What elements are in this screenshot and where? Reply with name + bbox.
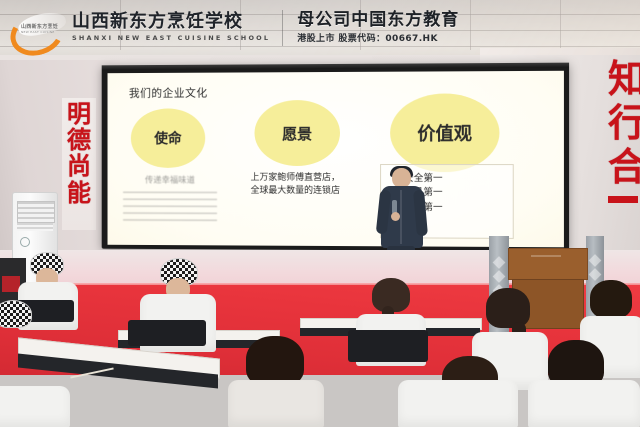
chef-coat (0, 386, 70, 427)
slide-bubble-mission: 使命 (131, 108, 205, 168)
banner-left-char-2: 尚 (67, 154, 91, 179)
slide-bubble-values: 价值观 (390, 93, 499, 172)
student-foreground-left (0, 300, 66, 427)
chef-hat (0, 300, 32, 328)
banner-right-char-0: 知 (608, 60, 640, 100)
photo-scene: 明 德 尚 能 知 行 合 我们的企业文化 使命 愿景 价值观 传递幸福味道 上… (0, 0, 640, 427)
slide-content: 我们的企业文化 使命 愿景 价值观 传递幸福味道 上万家鲍师傅直营店，全球最大数… (108, 71, 564, 248)
presenter-head (392, 168, 411, 188)
banner-left-char-0: 明 (67, 102, 91, 127)
student-hair (246, 336, 304, 386)
slide-title: 我们的企业文化 (129, 85, 208, 101)
chef-coat (398, 380, 518, 427)
chair-middle (128, 320, 206, 346)
wall-banner-right: 知 行 合 (604, 60, 640, 240)
banner-right-char-2: 合 (608, 148, 640, 188)
student-foreground-far-right (528, 340, 640, 427)
wall-banner-left: 明 德 尚 能 (62, 98, 96, 230)
banner-right-dash (608, 196, 638, 203)
parent-company-name: 母公司中国东方教育 (297, 12, 459, 29)
ac-vent-lower (17, 223, 53, 231)
slide-column-mission-text: 传递幸福味道 (129, 176, 211, 187)
chef-coat (228, 380, 324, 427)
slide-column-vision-text: 上万家鲍师傅直营店，全球最大数量的连锁店 (251, 172, 342, 198)
school-name-cn: 山西新东方烹饪学校 (72, 13, 270, 31)
ac-badge-icon (20, 237, 30, 247)
banner-left-char-1: 德 (67, 128, 91, 153)
projection-screen: 我们的企业文化 使命 愿景 价值观 传递幸福味道 上万家鲍师傅直营店，全球最大数… (102, 63, 569, 252)
header-divider (282, 10, 283, 46)
logo-inner-en: NEW EAST CUISINE (21, 30, 55, 34)
presenter-hand (391, 212, 400, 221)
parent-company-block: 母公司中国东方教育 港股上市 股票代码：00667.HK (297, 12, 459, 44)
school-logo-icon: 山西新东方烹饪 NEW EAST CUISINE (4, 5, 68, 51)
slide-column-mission-placeholder (123, 192, 217, 224)
school-name-en: SHANXI NEW EAST CUISINE SCHOOL (72, 35, 270, 42)
student-hair (486, 288, 530, 328)
student-foreground-right (398, 352, 518, 427)
school-name-block: 山西新东方烹饪学校 SHANXI NEW EAST CUISINE SCHOOL (72, 13, 270, 42)
student-hair (590, 280, 632, 318)
branding-header: 山西新东方烹饪 NEW EAST CUISINE 山西新东方烹饪学校 SHANX… (0, 0, 640, 55)
banner-left-char-3: 能 (67, 181, 91, 206)
parent-company-listing: 港股上市 股票代码：00667.HK (297, 35, 459, 44)
lectern-top (508, 248, 588, 280)
ac-vent-upper (17, 201, 55, 223)
student-foreground-center (228, 336, 324, 427)
chef-coat (528, 380, 640, 427)
logo-inner-cn: 山西新东方烹饪 (21, 23, 58, 30)
banner-right-char-1: 行 (608, 104, 640, 144)
slide-bubble-vision: 愿景 (254, 100, 339, 166)
